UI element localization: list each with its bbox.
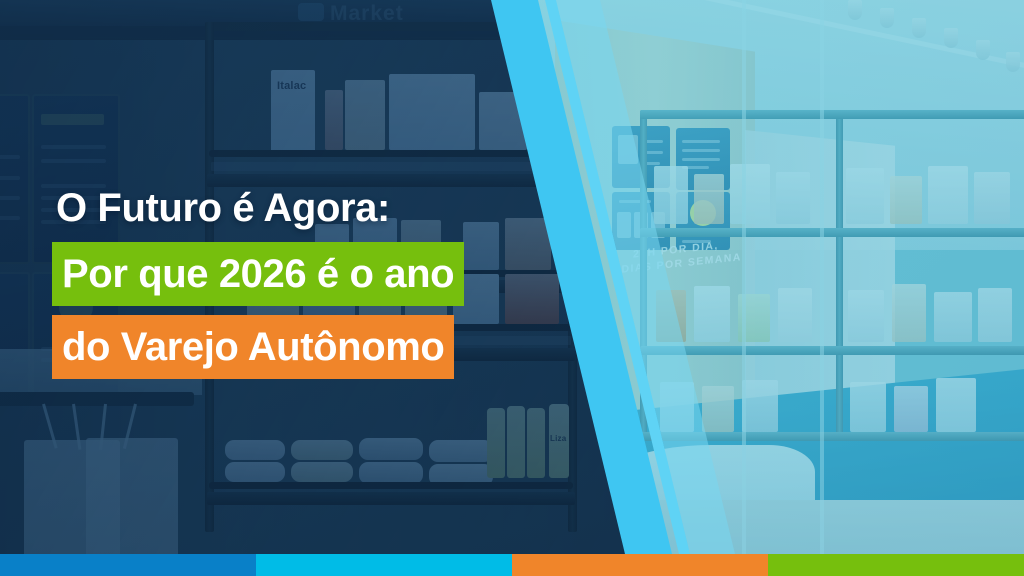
headline-line-1: O Futuro é Agora: [52, 186, 464, 233]
colorbar-segment-cyan [256, 554, 512, 576]
colorbar-segment-orange [512, 554, 768, 576]
headline-block: O Futuro é Agora: Por que 2026 é o ano d… [52, 186, 464, 379]
headline-line-3: do Varejo Autônomo [52, 315, 454, 379]
bottom-color-bar [0, 554, 1024, 576]
headline-line-2: Por que 2026 é o ano [52, 242, 464, 306]
promo-banner: Market Italac [0, 0, 1024, 576]
colorbar-segment-blue [0, 554, 256, 576]
colorbar-segment-green [768, 554, 1024, 576]
